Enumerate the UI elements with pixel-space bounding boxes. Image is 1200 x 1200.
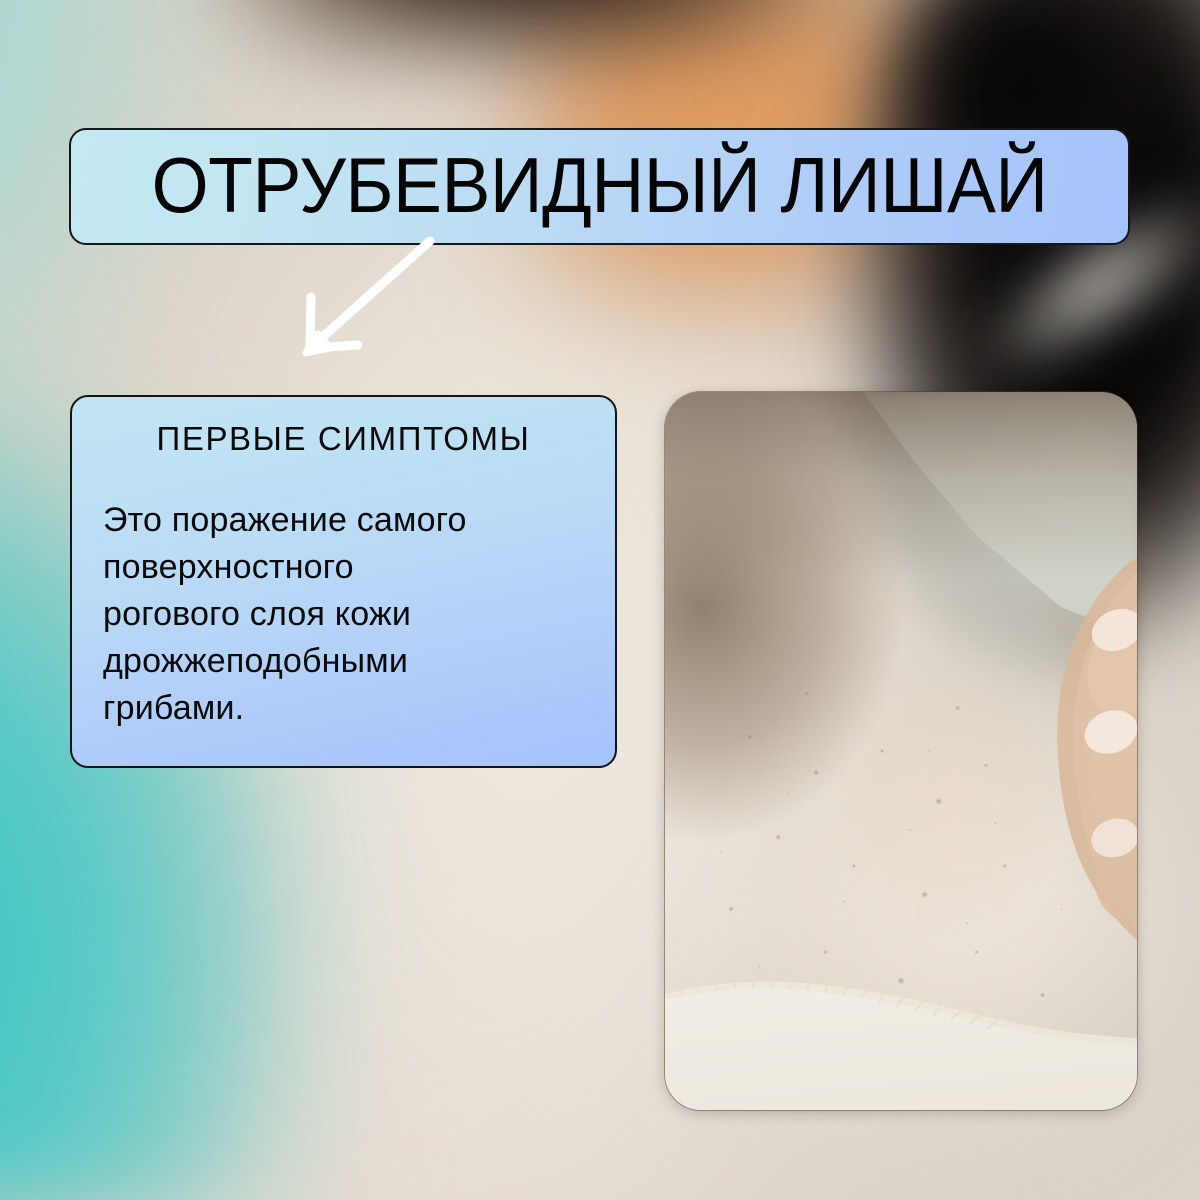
title-banner: ОТРУБЕВИДНЫЙ ЛИШАЙ [69, 128, 1130, 245]
symptoms-body-line: грибами. [103, 685, 597, 732]
skin-lesion-photo [665, 392, 1137, 1110]
symptoms-body-line: поверхностного [103, 544, 597, 591]
poster-canvas: ОТРУБЕВИДНЫЙ ЛИШАЙ ПЕРВЫЕ СИМПТОМЫ Это п… [0, 0, 1200, 1200]
symptoms-card-heading: ПЕРВЫЕ СИМПТОМЫ [72, 420, 615, 458]
symptoms-body-line: Это поражение самого [103, 497, 597, 544]
photo-color-grade [665, 392, 1137, 1110]
symptoms-body-line: дрожжеподобными [103, 638, 597, 685]
page-title: ОТРУБЕВИДНЫЙ ЛИШАЙ [151, 146, 1047, 224]
first-symptoms-card: ПЕРВЫЕ СИМПТОМЫ Это поражение самого пов… [70, 395, 617, 768]
symptoms-card-body: Это поражение самого поверхностного рого… [103, 497, 597, 732]
symptoms-body-line: рогового слоя кожи [103, 591, 597, 638]
